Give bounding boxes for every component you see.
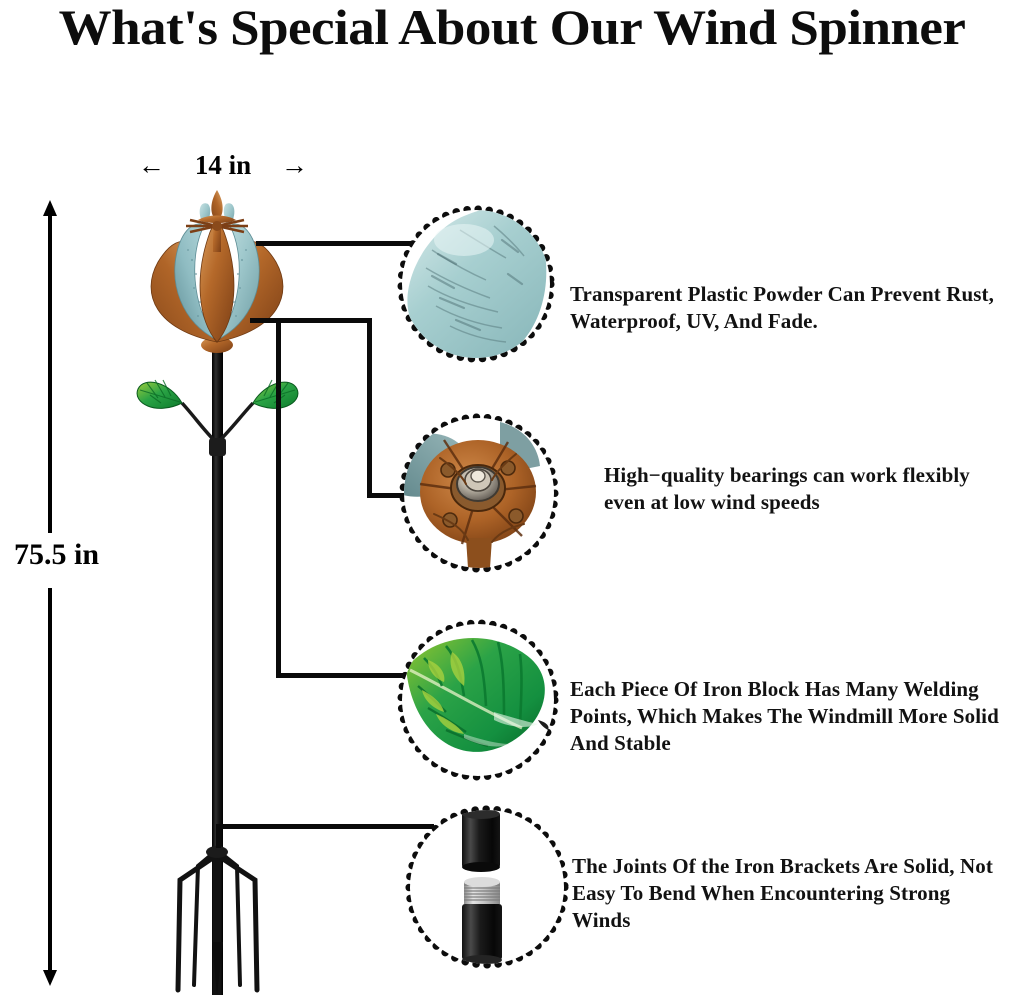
caption-joints: The Joints Of the Iron Brackets Are Soli… xyxy=(572,853,1004,934)
upper-pole-section xyxy=(462,810,500,872)
arrow-right-icon: → xyxy=(281,152,308,179)
callout-bearing-image xyxy=(404,418,554,568)
caption-coating: Transparent Plastic Powder Can Prevent R… xyxy=(570,281,1000,335)
caption-welding: Each Piece Of Iron Block Has Many Weldin… xyxy=(570,676,1010,757)
callout-coating xyxy=(396,204,556,364)
leaf-left xyxy=(137,380,182,408)
leader-line-welding-vertical xyxy=(276,318,281,678)
infographic-page: What's Special About Our Wind Spinner ← … xyxy=(0,0,1024,995)
width-dimension: ← 14 in → xyxy=(138,148,308,182)
width-dimension-label: 14 in xyxy=(195,150,251,180)
finial-spike xyxy=(211,190,222,216)
height-dimension-label: 75.5 in xyxy=(14,538,99,572)
height-dimension-upper-line xyxy=(48,213,52,533)
arrow-down-icon xyxy=(43,970,57,986)
leader-line-joints xyxy=(216,824,434,829)
callout-joints-image xyxy=(410,810,564,964)
callout-coating-image xyxy=(402,210,550,358)
leaf-collar xyxy=(209,438,226,456)
leader-line-coating xyxy=(256,241,426,246)
callout-welding-image xyxy=(402,624,554,776)
lower-pole-section xyxy=(462,877,502,964)
leader-line-trunk-top xyxy=(250,318,372,323)
callout-welding xyxy=(396,618,560,782)
height-dimension-lower-arrow xyxy=(44,588,56,986)
height-dimension-lower-line xyxy=(48,588,52,973)
leader-line-trunk-vertical xyxy=(367,318,372,498)
callout-bearing xyxy=(398,412,560,574)
arrow-left-icon: ← xyxy=(138,152,165,179)
caption-bearing: High−quality bearings can work flexibly … xyxy=(604,462,1004,516)
page-title: What's Special About Our Wind Spinner xyxy=(0,0,1024,56)
wind-spinner-svg xyxy=(120,190,350,995)
height-dimension-upper-arrow xyxy=(44,200,56,533)
product-illustration xyxy=(120,190,350,995)
callout-joints xyxy=(404,804,570,970)
